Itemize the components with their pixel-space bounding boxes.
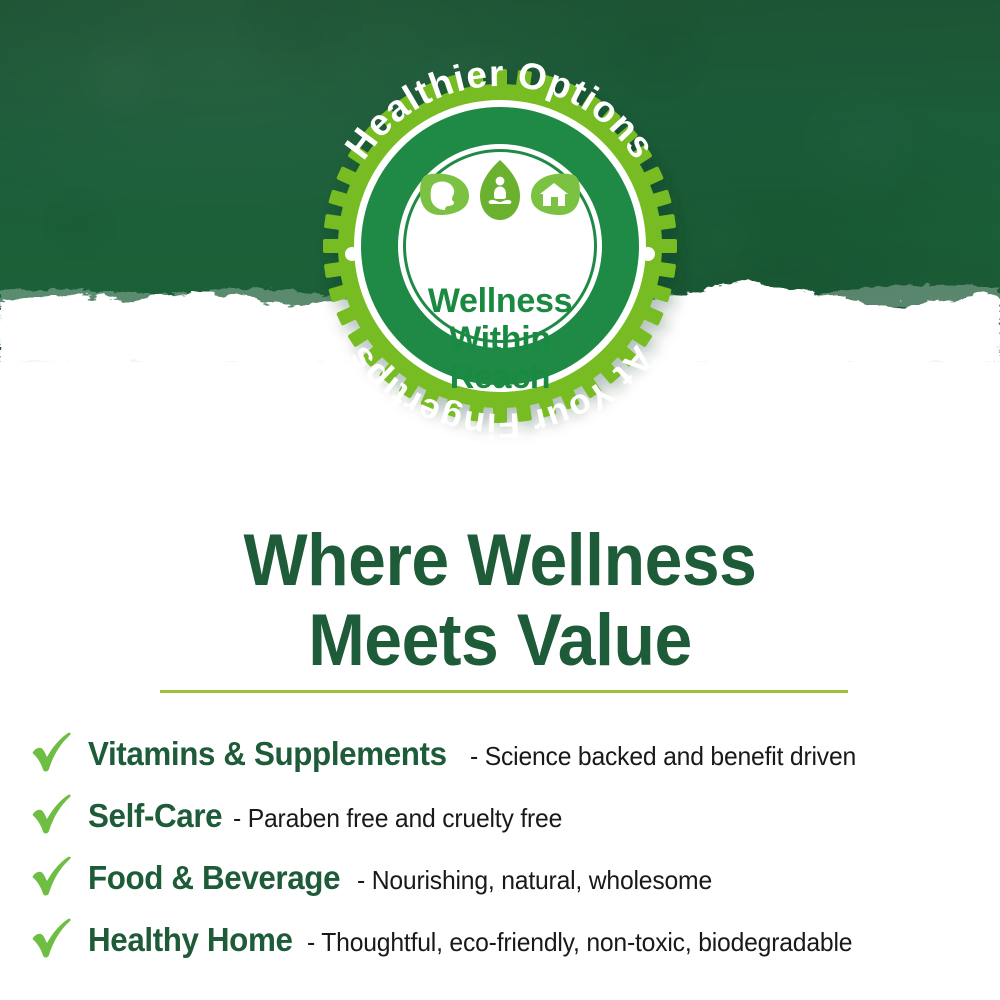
page-headline: Where Wellness Meets Value <box>35 521 965 681</box>
list-item-text: Vitamins & Supplements- Science backed a… <box>88 737 876 770</box>
list-item-text: Food & Beverage- Nourishing, natural, wh… <box>88 861 731 894</box>
list-item-title: Vitamins & Supplements <box>88 737 447 770</box>
feature-list: Vitamins & Supplements- Science backed a… <box>0 722 1000 970</box>
check-icon <box>30 917 72 961</box>
headline-divider <box>160 690 848 693</box>
list-item-title: Healthy Home <box>88 923 293 956</box>
list-item-description: - Thoughtful, eco-friendly, non-toxic, b… <box>307 929 852 955</box>
list-item-description: - Nourishing, natural, wholesome <box>357 867 712 893</box>
check-icon <box>30 731 72 775</box>
list-item-title: Self-Care <box>88 799 222 832</box>
list-item: Self-Care- Paraben free and cruelty free <box>0 784 1000 846</box>
badge-right-dot-icon <box>641 247 655 261</box>
list-item-title: Food & Beverage <box>88 861 340 894</box>
badge-center-line-2: Within <box>296 320 704 358</box>
badge-center-text: Wellness Within Reach <box>296 282 704 396</box>
badge-center-line-1: Wellness <box>296 282 704 320</box>
wellness-promo-poster: Healthier Options At Your Fingertips <box>0 0 1000 1000</box>
headline-line-1: Where Wellness <box>35 521 965 601</box>
badge-left-dot-icon <box>345 247 359 261</box>
list-item-text: Healthy Home- Thoughtful, eco-friendly, … <box>88 923 881 956</box>
list-item-description: - Science backed and benefit driven <box>470 743 856 769</box>
wellness-seal-badge: Healthier Options At Your Fingertips <box>296 72 704 416</box>
list-item-description: - Paraben free and cruelty free <box>233 805 562 831</box>
badge-center-line-3: Reach <box>296 358 704 396</box>
check-icon <box>30 793 72 837</box>
list-item-text: Self-Care- Paraben free and cruelty free <box>88 799 580 832</box>
list-item: Vitamins & Supplements- Science backed a… <box>0 722 1000 784</box>
headline-line-2: Meets Value <box>35 601 965 681</box>
list-item: Food & Beverage- Nourishing, natural, wh… <box>0 846 1000 908</box>
list-item: Healthy Home- Thoughtful, eco-friendly, … <box>0 908 1000 970</box>
check-icon <box>30 855 72 899</box>
